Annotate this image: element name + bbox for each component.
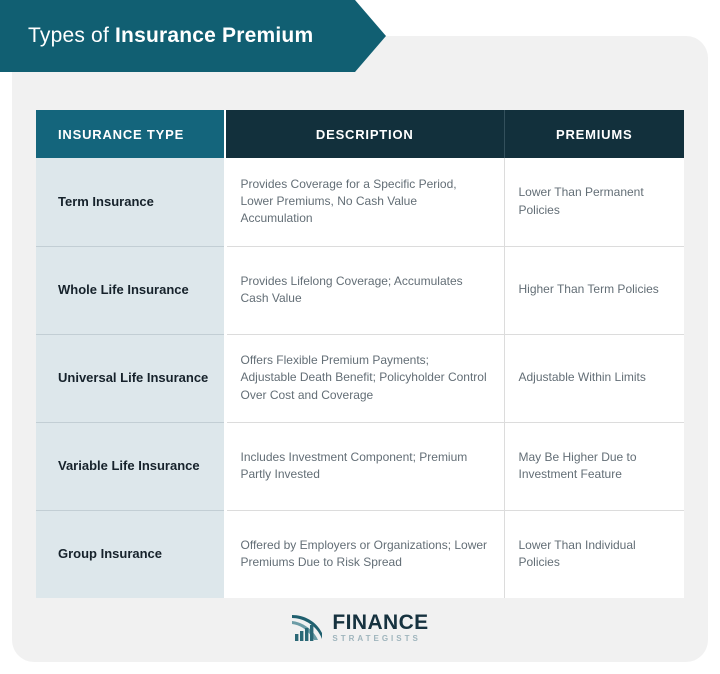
finance-strategists-chart-icon <box>291 613 325 643</box>
column-header-insurance-type: INSURANCE TYPE <box>36 110 225 158</box>
cell-description: Offers Flexible Premium Payments; Adjust… <box>225 334 504 422</box>
cell-insurance-type: Universal Life Insurance <box>36 334 225 422</box>
table-header-row: INSURANCE TYPE DESCRIPTION PREMIUMS <box>36 110 684 158</box>
table-row: Group Insurance Offered by Employers or … <box>36 510 684 598</box>
cell-premiums: Lower Than Permanent Policies <box>504 158 684 246</box>
cell-premiums: May Be Higher Due to Investment Feature <box>504 422 684 510</box>
insurance-premium-table-wrapper: INSURANCE TYPE DESCRIPTION PREMIUMS Term… <box>36 110 684 598</box>
cell-description: Includes Investment Component; Premium P… <box>225 422 504 510</box>
cell-premiums: Adjustable Within Limits <box>504 334 684 422</box>
cell-insurance-type: Whole Life Insurance <box>36 246 225 334</box>
column-header-description: DESCRIPTION <box>225 110 504 158</box>
table-body: Term Insurance Provides Coverage for a S… <box>36 158 684 598</box>
page-title-strong: Insurance Premium <box>115 24 313 47</box>
cell-insurance-type: Variable Life Insurance <box>36 422 225 510</box>
cell-premiums: Lower Than Individual Policies <box>504 510 684 598</box>
insurance-premium-table: INSURANCE TYPE DESCRIPTION PREMIUMS Term… <box>36 110 684 598</box>
table-row: Variable Life Insurance Includes Investm… <box>36 422 684 510</box>
table-row: Whole Life Insurance Provides Lifelong C… <box>36 246 684 334</box>
cell-insurance-type: Term Insurance <box>36 158 225 246</box>
column-header-premiums: PREMIUMS <box>504 110 684 158</box>
cell-description: Provides Lifelong Coverage; Accumulates … <box>225 246 504 334</box>
page-title: Types of Insurance Premium <box>28 24 313 48</box>
logo-wordmark: FINANCE <box>332 612 428 633</box>
cell-description: Offered by Employers or Organizations; L… <box>225 510 504 598</box>
cell-insurance-type: Group Insurance <box>36 510 225 598</box>
cell-description: Provides Coverage for a Specific Period,… <box>225 158 504 246</box>
table-header: INSURANCE TYPE DESCRIPTION PREMIUMS <box>36 110 684 158</box>
title-banner: Types of Insurance Premium <box>0 0 386 72</box>
brand-logo: FINANCE STRATEGISTS <box>0 612 720 643</box>
page-title-prefix: Types of <box>28 24 115 47</box>
table-row: Term Insurance Provides Coverage for a S… <box>36 158 684 246</box>
cell-premiums: Higher Than Term Policies <box>504 246 684 334</box>
table-row: Universal Life Insurance Offers Flexible… <box>36 334 684 422</box>
logo-subtitle: STRATEGISTS <box>332 635 428 643</box>
